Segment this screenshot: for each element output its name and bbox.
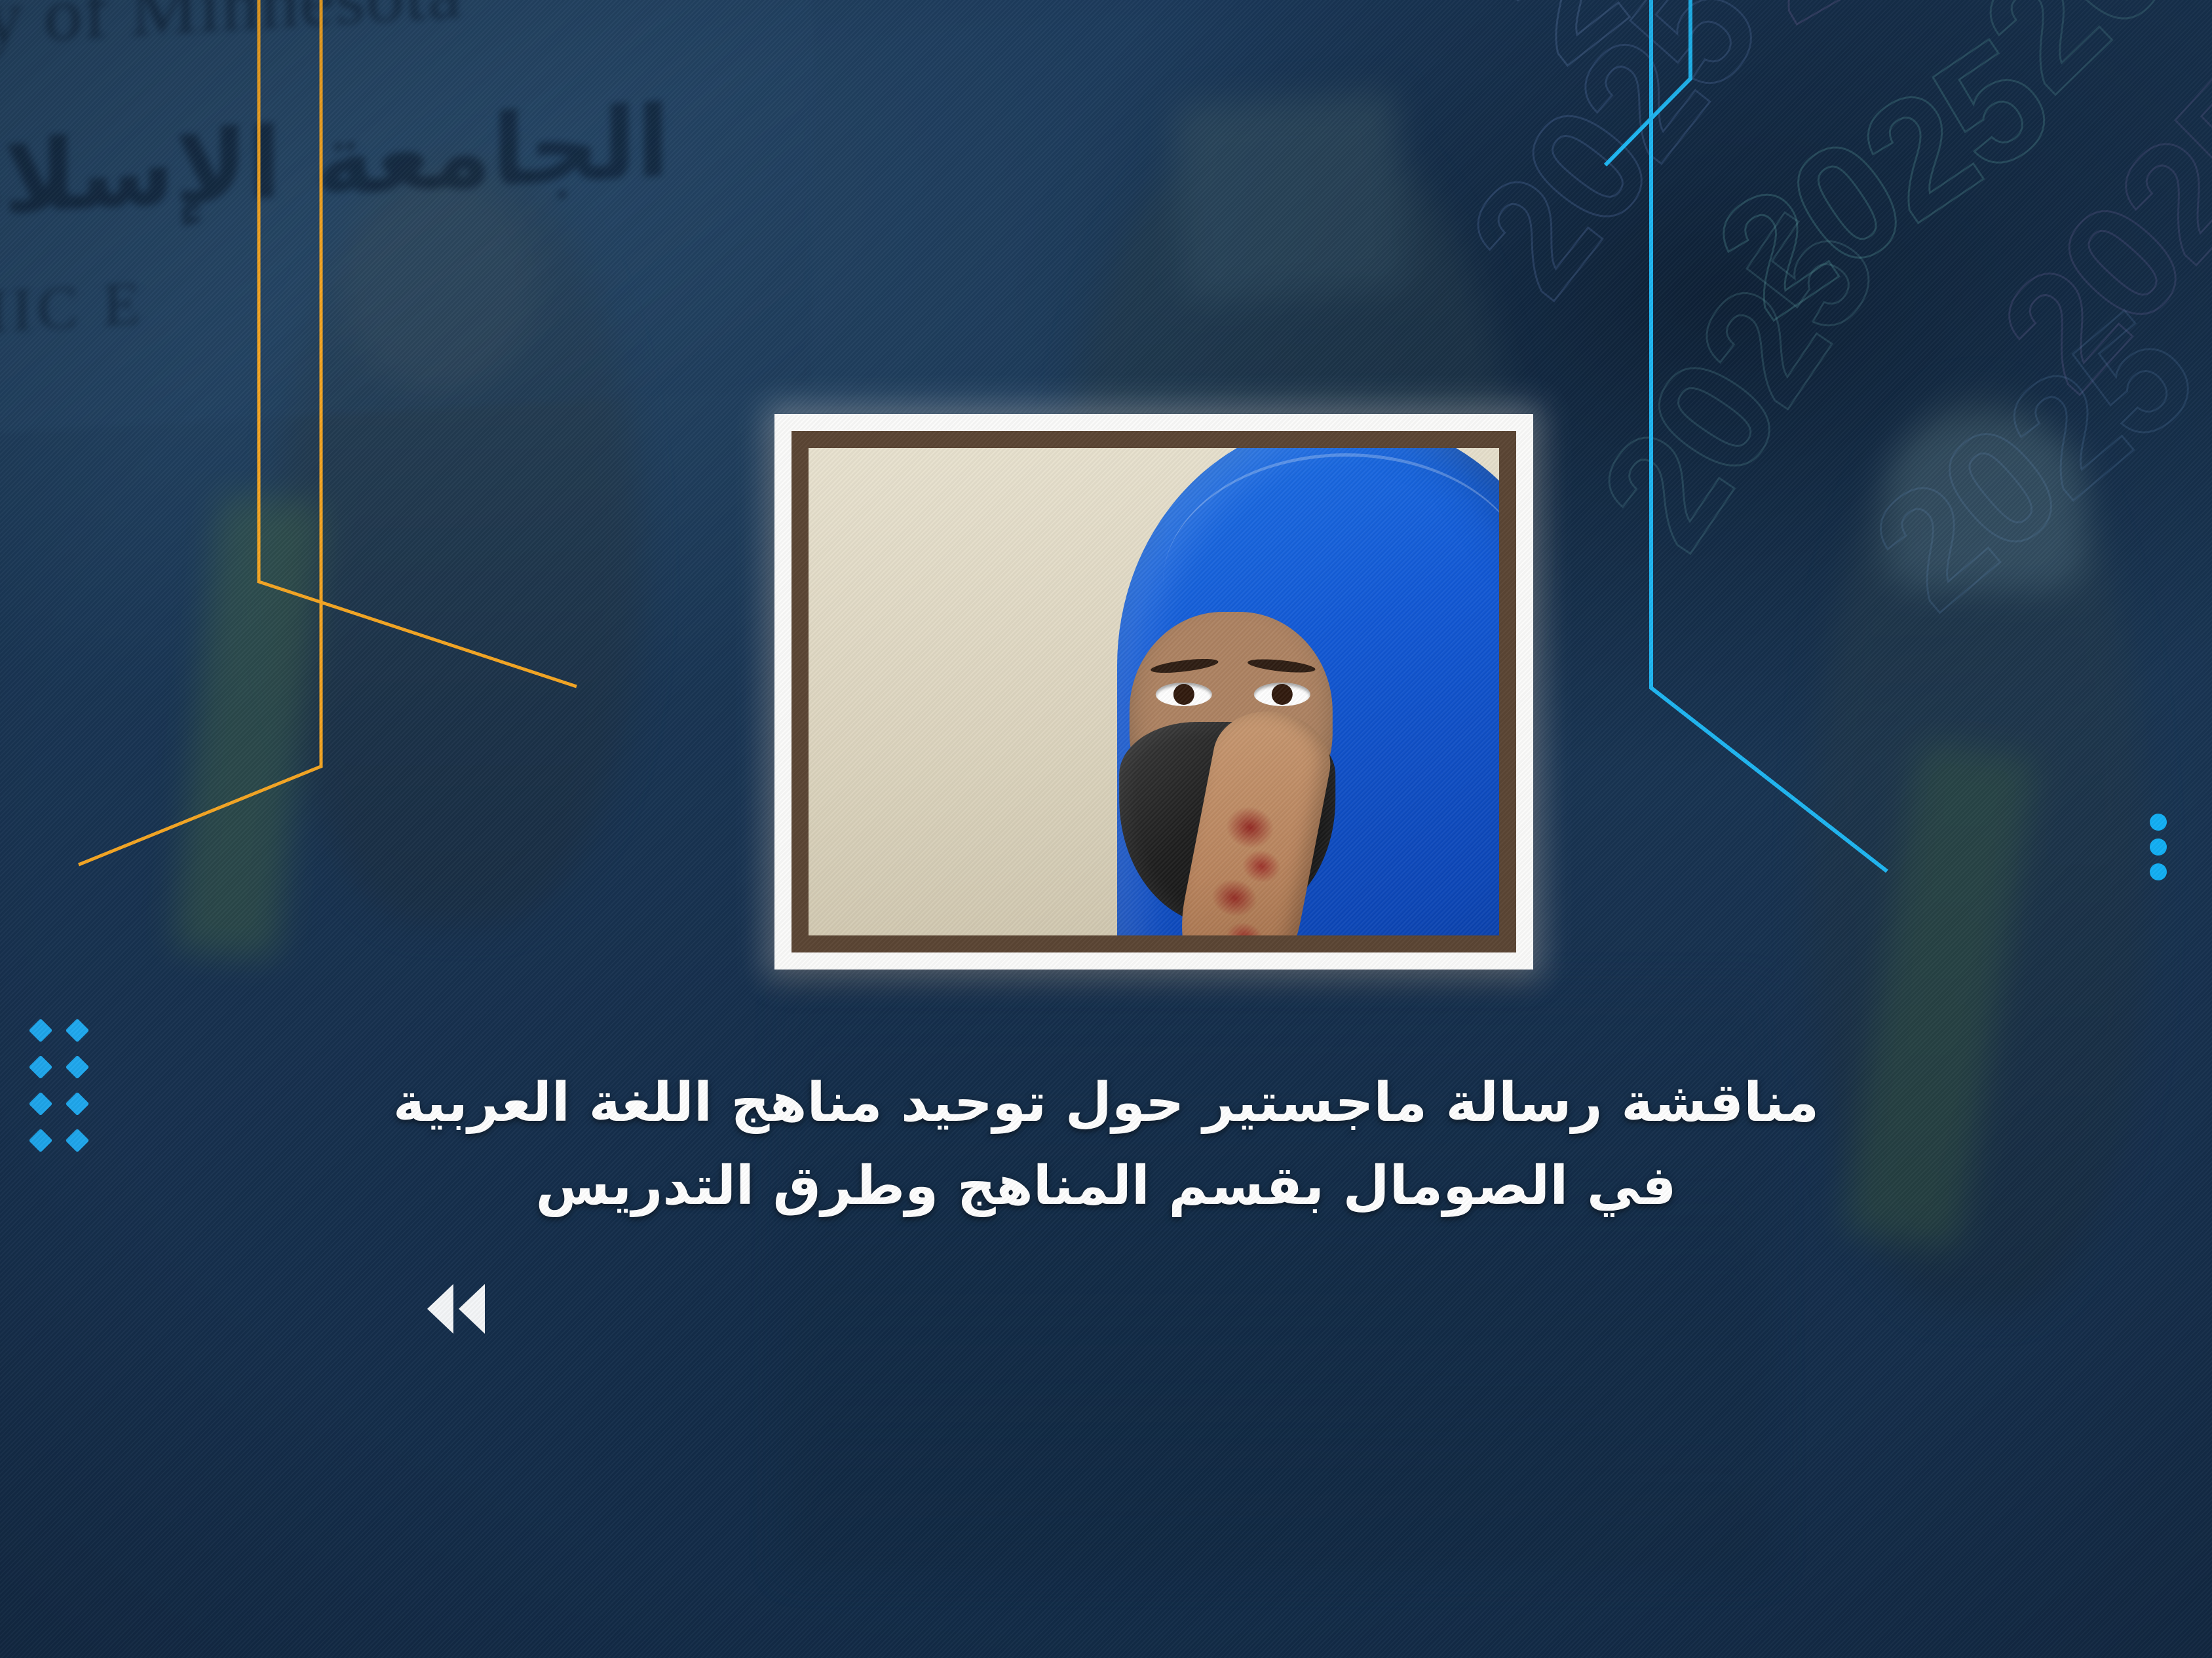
eyebrow-right <box>1247 657 1316 675</box>
eyebrow-left <box>1150 656 1219 676</box>
round-dot <box>2150 838 2167 856</box>
dot-cluster-right <box>2150 814 2167 880</box>
diamond-dot <box>66 1019 90 1043</box>
title-line-1: مناقشة رسالة ماجستير حول توحيد مناهج الل… <box>275 1061 1937 1144</box>
cyan-decorative-line-2 <box>1605 0 1690 165</box>
orange-decorative-line-2 <box>79 0 321 865</box>
photo-mat-border <box>791 431 1516 952</box>
eye-right <box>1254 683 1310 706</box>
eye-left <box>1156 683 1212 706</box>
round-dot <box>2150 863 2167 880</box>
orange-decorative-line-1 <box>259 0 577 687</box>
rewind-previous-icon[interactable] <box>425 1284 487 1334</box>
triangle-left-inner <box>459 1284 485 1334</box>
triangle-left-outer <box>427 1284 453 1334</box>
diamond-dot <box>29 1019 53 1043</box>
round-dot <box>2150 814 2167 831</box>
slide-title: مناقشة رسالة ماجستير حول توحيد مناهج الل… <box>0 1061 2212 1228</box>
slide-canvas: rsity of Minnesota الجامعة الإسلامية LAM… <box>0 0 2212 1658</box>
henna-pattern <box>1190 799 1305 935</box>
portrait-photo <box>809 448 1499 935</box>
cyan-decorative-line-1 <box>1651 0 1887 871</box>
title-line-2: في الصومال بقسم المناهج وطرق التدريس <box>275 1144 1937 1228</box>
portrait-photo-frame <box>774 414 1533 970</box>
